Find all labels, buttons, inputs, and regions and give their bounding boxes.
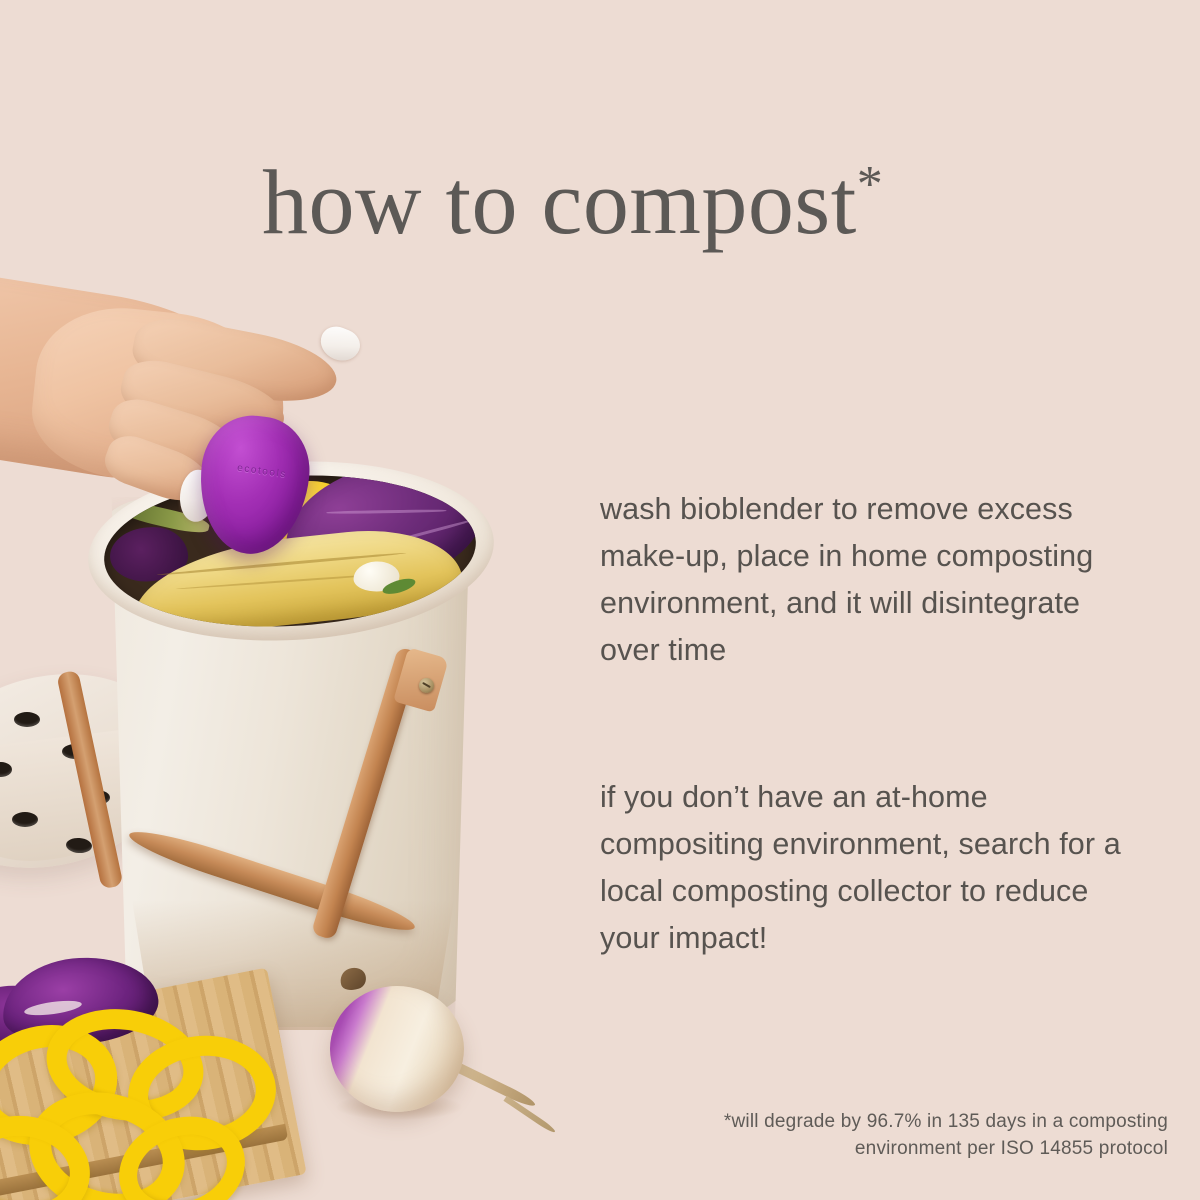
page-title-text: how to compost bbox=[262, 151, 857, 253]
turnip bbox=[330, 986, 464, 1112]
lid-vent-hole-icon bbox=[12, 812, 38, 827]
footnote-disclaimer: *will degrade by 96.7% in 135 days in a … bbox=[688, 1108, 1168, 1162]
instruction-paragraph-2: if you don’t have an at-home compositing… bbox=[600, 774, 1130, 962]
instruction-paragraph-1: wash bioblender to remove excess make-up… bbox=[600, 486, 1130, 674]
cabbage-vein bbox=[326, 509, 446, 514]
cabbage-vein bbox=[345, 472, 455, 489]
lid-vent-hole-icon bbox=[14, 712, 40, 727]
instructions-column: wash bioblender to remove excess make-up… bbox=[600, 455, 1130, 992]
screw-icon bbox=[419, 678, 434, 693]
page-title: how to compost* bbox=[262, 154, 883, 251]
compost-infographic: ecotools how to compost* wash bioblender… bbox=[0, 0, 1200, 1200]
page-title-asterisk: * bbox=[857, 156, 884, 213]
